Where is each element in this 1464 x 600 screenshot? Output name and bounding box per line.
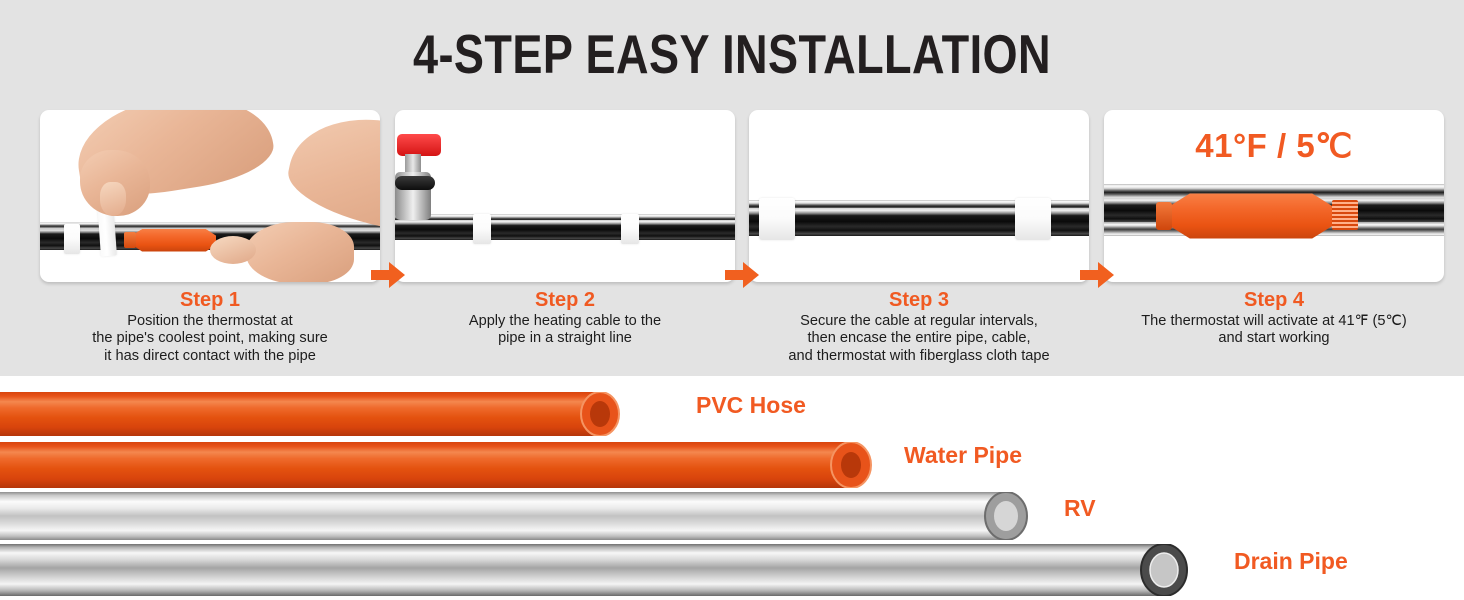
tape-band xyxy=(759,198,795,240)
pipe-item-water-pipe xyxy=(0,442,874,488)
right-hand xyxy=(246,222,354,282)
thermostat-module xyxy=(1166,192,1336,240)
installation-section: 4-STEP EASY INSTALLATION xyxy=(0,0,1464,376)
step-image-1 xyxy=(40,110,380,282)
pipe-item-pvc-hose xyxy=(0,392,622,436)
pipe-end-opening xyxy=(982,492,1030,540)
step-label-4: Step 4 xyxy=(1096,288,1452,312)
step-caption-2: Step 2 Apply the heating cable to the pi… xyxy=(387,288,743,348)
tape-band xyxy=(621,214,639,244)
steps-row: Step 1 Position the thermostat at the pi… xyxy=(0,110,1464,372)
pipe-label-pvc-hose: PVC Hose xyxy=(696,392,806,419)
step-description-3: Secure the cable at regular intervals, t… xyxy=(741,313,1097,365)
step-2-illustration xyxy=(395,110,735,282)
step-image-2 xyxy=(395,110,735,282)
pipe-body xyxy=(0,492,1004,540)
step-caption-4: Step 4 The thermostat will activate at 4… xyxy=(1096,288,1452,348)
step-caption-1: Step 1 Position the thermostat at the pi… xyxy=(32,288,388,365)
right-thumb xyxy=(210,236,256,264)
tape-band xyxy=(473,214,491,244)
arrow-right-icon xyxy=(1080,262,1114,288)
pipe-item-drain-pipe xyxy=(0,544,1190,596)
pipe-end-opening xyxy=(828,442,874,488)
cable-loop xyxy=(395,176,435,190)
step-3-illustration xyxy=(749,110,1089,282)
pipe-label-drain-pipe: Drain Pipe xyxy=(1234,548,1348,575)
red-valve-handle xyxy=(397,134,441,156)
page-title: 4-STEP EASY INSTALLATION xyxy=(132,22,1332,86)
thermostat-ribbed-end xyxy=(1332,200,1358,230)
step-item-1: Step 1 Position the thermostat at the pi… xyxy=(40,110,380,372)
pipe-item-rv xyxy=(0,492,1030,540)
tape-band xyxy=(1015,198,1051,240)
tape-band xyxy=(64,224,80,254)
thermostat-module xyxy=(132,228,216,252)
thermostat-strain-relief xyxy=(124,232,136,248)
applications-section: PVC Hose Water Pipe RV xyxy=(0,376,1464,600)
pipe-body xyxy=(0,544,1160,596)
step-label-1: Step 1 xyxy=(32,288,388,312)
pipe-end-opening xyxy=(578,392,622,436)
step-item-3: Step 3 Secure the cable at regular inter… xyxy=(749,110,1089,372)
step-image-3 xyxy=(749,110,1089,282)
step-item-4: 41°F / 5℃ Step 4 The thermostat will act… xyxy=(1104,110,1444,372)
step-1-illustration xyxy=(40,110,380,282)
pipe-label-water-pipe: Water Pipe xyxy=(904,442,1022,469)
step-image-4: 41°F / 5℃ xyxy=(1104,110,1444,282)
step-label-2: Step 2 xyxy=(387,288,743,312)
step-4-illustration: 41°F / 5℃ xyxy=(1104,110,1444,282)
arrow-right-icon xyxy=(725,262,759,288)
step-label-3: Step 3 xyxy=(741,288,1097,312)
step-description-1: Position the thermostat at the pipe's co… xyxy=(32,313,388,365)
pipe-body xyxy=(0,442,850,488)
step-description-2: Apply the heating cable to the pipe in a… xyxy=(387,313,743,348)
step-caption-3: Step 3 Secure the cable at regular inter… xyxy=(741,288,1097,365)
pipe-end-opening xyxy=(1138,544,1190,596)
step-description-4: The thermostat will activate at 41℉ (5℃)… xyxy=(1096,313,1452,348)
step-item-2: Step 2 Apply the heating cable to the pi… xyxy=(395,110,735,372)
thermostat-strain-relief xyxy=(1156,202,1172,230)
temperature-readout: 41°F / 5℃ xyxy=(1104,126,1444,165)
left-thumb xyxy=(100,182,126,216)
pipe-label-rv: RV xyxy=(1064,495,1096,522)
heating-cable xyxy=(395,220,735,240)
arrow-right-icon xyxy=(371,262,405,288)
pipe-body xyxy=(0,392,600,436)
